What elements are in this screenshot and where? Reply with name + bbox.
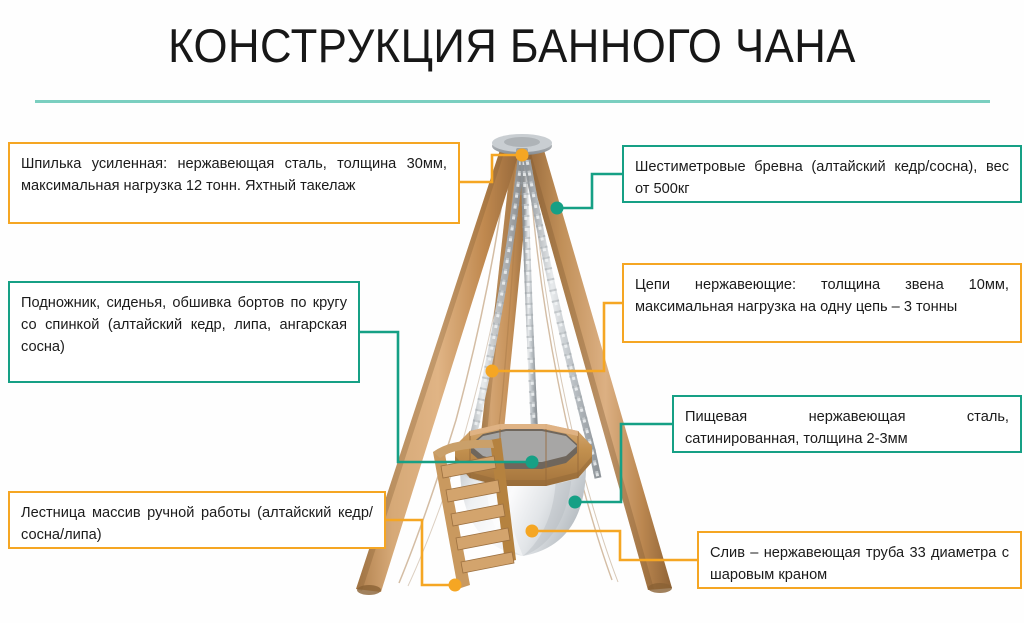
callout-drain-text: Слив – нержавеющая труба 33 диаметра с ш… <box>710 542 1009 586</box>
connector-logs <box>559 174 622 208</box>
connector-stud <box>460 155 520 182</box>
callout-chains-text: Цепи нержавеющие: толщина звена 10мм, ма… <box>635 274 1009 318</box>
connector-dot-chains <box>486 365 499 378</box>
connector-ladder <box>386 520 453 585</box>
callout-ladder[interactable]: Лестница массив ручной работы (алтайский… <box>8 491 386 549</box>
callout-stud[interactable]: Шпилька усиленная: нержавеющая сталь, то… <box>8 142 460 224</box>
callout-steel[interactable]: Пищевая нержавеющая сталь, сатинированна… <box>672 395 1022 453</box>
title-divider <box>35 100 990 103</box>
callout-logs-text: Шестиметровые бревна (алтайский кедр/сос… <box>635 156 1009 200</box>
connector-dot-lining <box>526 456 539 469</box>
callout-logs[interactable]: Шестиметровые бревна (алтайский кедр/сос… <box>622 145 1022 203</box>
connector-dot-ladder <box>449 579 462 592</box>
connector-dot-logs <box>551 202 564 215</box>
page-title: КОНСТРУКЦИЯ БАННОГО ЧАНА <box>36 17 988 75</box>
callout-stud-text: Шпилька усиленная: нержавеющая сталь, то… <box>21 153 447 197</box>
callout-steel-text: Пищевая нержавеющая сталь, сатинированна… <box>685 406 1009 450</box>
connector-steel <box>577 424 672 502</box>
callout-lining[interactable]: Подножник, сиденья, обшивка бортов по кр… <box>8 281 360 383</box>
connector-lining <box>360 332 530 462</box>
callout-lining-text: Подножник, сиденья, обшивка бортов по кр… <box>21 292 347 358</box>
callout-drain[interactable]: Слив – нержавеющая труба 33 диаметра с ш… <box>697 531 1022 589</box>
callout-chains[interactable]: Цепи нержавеющие: толщина звена 10мм, ма… <box>622 263 1022 343</box>
callout-ladder-text: Лестница массив ручной работы (алтайский… <box>21 502 373 546</box>
infographic-stage: КОНСТРУКЦИЯ БАННОГО ЧАНА Шпилька усиленн… <box>0 0 1024 623</box>
connector-chains <box>494 303 622 371</box>
connector-dot-steel <box>569 496 582 509</box>
connector-dot-drain <box>526 525 539 538</box>
connector-drain <box>534 531 697 560</box>
connector-dot-stud <box>516 149 529 162</box>
